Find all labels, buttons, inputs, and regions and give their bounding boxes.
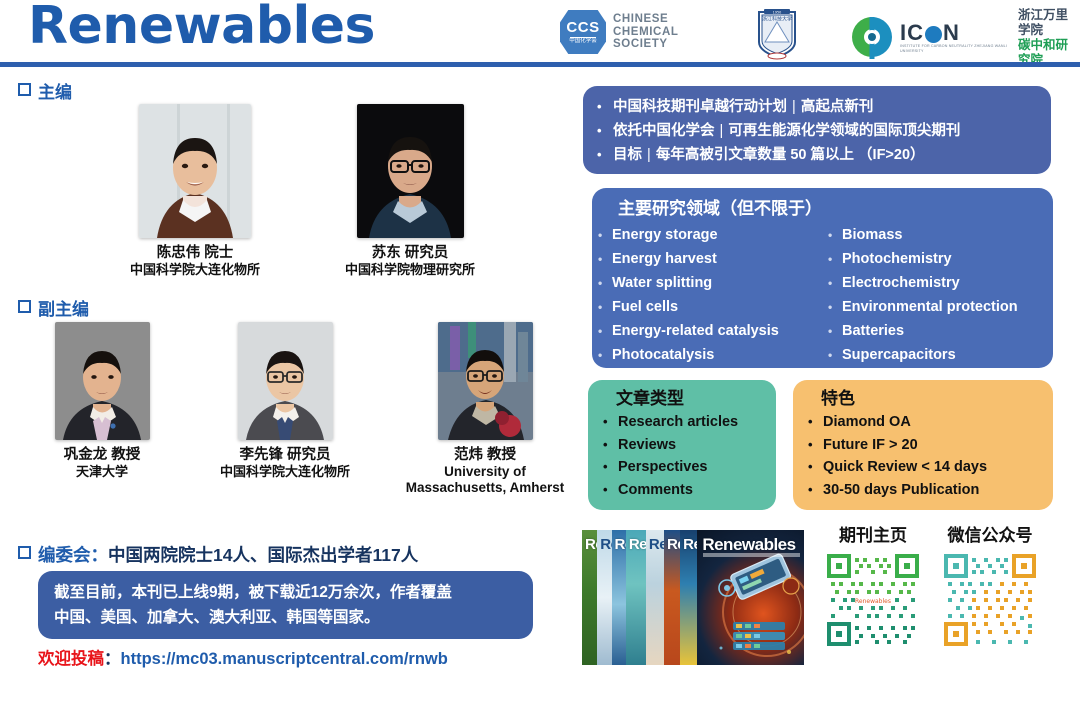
journal-cover-main: Renewables xyxy=(697,530,804,665)
research-areas-column-right: Biomass Photochemistry Electrochemistry … xyxy=(822,223,1041,367)
icon-subtext: INSTITUTE FOR CARBON NEUTRALITY ZHEJIANG… xyxy=(900,44,1009,53)
associate-editor-photo-1 xyxy=(238,322,333,440)
icon-word-text: ICN xyxy=(900,23,1009,43)
right-column: 中国科技期刊卓越行动计划 | 高起点新刊 依托中国化学会 | 可再生能源化学领域… xyxy=(580,70,1080,719)
associate-editor-name-2: 范炜 教授 xyxy=(390,447,580,464)
submission-label: 欢迎投稿 xyxy=(38,650,104,668)
editor-card-0: 陈忠伟 院士 中国科学院大连化物所 xyxy=(105,104,285,278)
logo-strip: CCS 中国化学会 CHINESE CHEMICAL SOCIETY 19 xyxy=(550,4,1080,60)
highlight-item-1-a: 依托中国化学会 xyxy=(613,123,715,139)
submission-url[interactable]: https://mc03.manuscriptcentral.com/rnwb xyxy=(121,650,448,668)
research-area-item: Environmental protection xyxy=(822,295,1041,319)
research-area-item: Energy-related catalysis xyxy=(592,319,822,343)
cover-spine-label: Re xyxy=(585,536,597,553)
editor-name-1: 苏东 研究员 xyxy=(320,245,500,262)
journal-cover-spine: Re xyxy=(582,530,597,665)
submission-colon: ： xyxy=(104,650,121,668)
journal-covers: Re Re Re Re Re Re Re xyxy=(582,530,804,665)
associate-editor-affiliation-2b: Massachusetts, Amherst xyxy=(390,480,580,496)
research-area-item: Energy harvest xyxy=(592,247,822,271)
associate-editor-name-0: 巩金龙 教授 xyxy=(22,447,182,464)
section-heading-editor-in-chief: 主编 xyxy=(18,78,72,103)
square-bullet-icon xyxy=(18,546,31,559)
qr-code-wechat-icon[interactable] xyxy=(940,550,1040,650)
highlight-item-1-b: 可再生能源化学领域的国际顶尖期刊 xyxy=(728,123,960,139)
cover-spine-label: Re xyxy=(683,536,697,553)
icon-logo: ICN INSTITUTE FOR CARBON NEUTRALITY ZHEJ… xyxy=(850,8,1080,68)
highlight-item-2: 目标 | 每年高被引文章数量 50 篇以上 （IF>20） xyxy=(583,143,1051,167)
associate-editor-card-0: 巩金龙 教授 天津大学 xyxy=(22,322,182,480)
ccs-logo: CCS 中国化学会 CHINESE CHEMICAL SOCIETY xyxy=(560,10,679,54)
highlight-item-0-sep: | xyxy=(787,99,801,115)
qr-block-wechat: 微信公众号 xyxy=(940,525,1040,650)
page-title: Renewables xyxy=(28,0,375,56)
university-crest-icon: 1950 浙江科技大学 xyxy=(750,6,804,60)
research-area-item: Supercapacitors xyxy=(822,343,1041,367)
research-area-item: Batteries xyxy=(822,319,1041,343)
feature-item: Quick Review < 14 days xyxy=(793,456,1053,479)
feature-item: Future IF > 20 xyxy=(793,434,1053,457)
article-type-item: Research articles xyxy=(588,411,776,434)
highlight-item-1: 依托中国化学会 | 可再生能源化学领域的国际顶尖期刊 xyxy=(583,119,1051,143)
editor-card-1: 苏东 研究员 中国科学院物理研究所 xyxy=(320,104,500,278)
svg-text:浙江科技大学: 浙江科技大学 xyxy=(762,16,792,23)
research-area-item: Photocatalysis xyxy=(592,343,822,367)
ccs-hex-icon: CCS 中国化学会 xyxy=(560,10,606,54)
highlight-item-2-a: 目标 xyxy=(613,147,642,163)
cover-main-subtitle-bar xyxy=(703,553,800,557)
research-area-item: Energy storage xyxy=(592,223,822,247)
cover-main-title: Renewables xyxy=(702,535,795,555)
research-areas-column-left: Energy storage Energy harvest Water spli… xyxy=(592,223,822,367)
research-areas-panel: 主要研究领域（但不限于） Energy storage Energy harve… xyxy=(592,188,1053,368)
research-areas-columns: Energy storage Energy harvest Water spli… xyxy=(592,223,1053,367)
cover-spine-label: Re xyxy=(667,536,680,553)
ccs-word-line-1: CHINESE xyxy=(613,13,679,26)
qr-label-wechat: 微信公众号 xyxy=(940,525,1040,547)
feature-item: 30-50 days Publication xyxy=(793,479,1053,502)
editorial-board-label: 编委会： xyxy=(38,545,108,565)
ccs-mark-subtext: 中国化学会 xyxy=(569,39,597,45)
associate-editor-affiliation-2: University of xyxy=(390,464,580,480)
article-type-item: Perspectives xyxy=(588,456,776,479)
feature-item: Diamond OA xyxy=(793,411,1053,434)
qr-code-journal-homepage-icon[interactable]: Renewables xyxy=(823,550,923,650)
square-bullet-icon xyxy=(18,300,31,313)
article-type-item: Reviews xyxy=(588,434,776,457)
journal-stats-line-1: 截至目前，本刊已上线9期，被下载近12万余次，作者覆盖 xyxy=(54,580,517,605)
associate-editors-heading-label: 副主编 xyxy=(38,300,89,319)
poster-root: Renewables CCS 中国化学会 CHINESE CHEMICAL SO… xyxy=(0,0,1080,719)
svg-text:1950: 1950 xyxy=(773,10,782,14)
ccs-mark-text: CCS xyxy=(566,20,599,35)
journal-cover-spine: Re xyxy=(597,530,611,665)
journal-cover-spine: Re xyxy=(664,530,680,665)
associate-editor-photo-0 xyxy=(55,322,150,440)
section-heading-associate-editors: 副主编 xyxy=(18,295,89,320)
research-area-item: Photochemistry xyxy=(822,247,1041,271)
qr-block-journal-homepage: 期刊主页 xyxy=(823,525,923,650)
research-area-item: Water splitting xyxy=(592,271,822,295)
article-type-item: Comments xyxy=(588,479,776,502)
ccs-word-line-2: CHEMICAL xyxy=(613,26,679,39)
highlight-item-0-a: 中国科技期刊卓越行动计划 xyxy=(613,99,787,115)
icon-leaf-mark-icon xyxy=(850,15,894,61)
cover-spine-label: Re xyxy=(629,536,646,553)
journal-cover-spine: Re xyxy=(646,530,664,665)
research-area-item: Fuel cells xyxy=(592,295,822,319)
left-column: 主编 陈忠伟 院士 中国 xyxy=(0,70,580,719)
poster-header: Renewables CCS 中国化学会 CHINESE CHEMICAL SO… xyxy=(0,0,1080,66)
icon-cn-line-1: 浙江万里学院 xyxy=(1018,8,1080,38)
icon-wordmark: ICN INSTITUTE FOR CARBON NEUTRALITY ZHEJ… xyxy=(900,23,1009,53)
research-area-item: Biomass xyxy=(822,223,1041,247)
icon-chinese-name: 浙江万里学院 碳中和研究院 xyxy=(1018,8,1080,68)
associate-editor-card-1: 李先锋 研究员 中国科学院大连化物所 xyxy=(195,322,375,480)
features-panel: 特色 Diamond OA Future IF > 20 Quick Revie… xyxy=(793,380,1053,510)
associate-editor-photo-2 xyxy=(438,322,533,440)
highlight-item-0: 中国科技期刊卓越行动计划 | 高起点新刊 xyxy=(583,95,1051,119)
cover-spine-label: Re xyxy=(615,536,626,553)
highlights-list: 中国科技期刊卓越行动计划 | 高起点新刊 依托中国化学会 | 可再生能源化学领域… xyxy=(583,95,1051,167)
editorial-board-line: 编委会：中国两院院士14人、国际杰出学者117人 xyxy=(18,542,418,567)
associate-editor-affiliation-1: 中国科学院大连化物所 xyxy=(195,464,375,480)
editor-photo-0 xyxy=(139,104,251,238)
research-area-item: Electrochemistry xyxy=(822,271,1041,295)
submission-line[interactable]: 欢迎投稿：https://mc03.manuscriptcentral.com/… xyxy=(38,649,448,669)
article-types-list: Research articles Reviews Perspectives C… xyxy=(588,411,776,501)
editor-photo-1 xyxy=(357,104,464,238)
ccs-word-line-3: SOCIETY xyxy=(613,38,679,51)
journal-cover-spine: Re xyxy=(680,530,697,665)
journal-cover-spine: Re xyxy=(626,530,646,665)
highlight-item-2-sep: | xyxy=(642,147,656,163)
highlights-panel: 中国科技期刊卓越行动计划 | 高起点新刊 依托中国化学会 | 可再生能源化学领域… xyxy=(583,86,1051,174)
journal-cover-spine: Re xyxy=(612,530,626,665)
editor-affiliation-1: 中国科学院物理研究所 xyxy=(320,262,500,278)
journal-stats-line-2: 中国、美国、加拿大、澳大利亚、韩国等国家。 xyxy=(54,605,517,630)
journal-stats-box: 截至目前，本刊已上线9期，被下载近12万余次，作者覆盖 中国、美国、加拿大、澳大… xyxy=(38,571,533,639)
research-areas-title: 主要研究领域（但不限于） xyxy=(592,196,1053,222)
associate-editor-affiliation-0: 天津大学 xyxy=(22,464,182,480)
article-types-panel: 文章类型 Research articles Reviews Perspecti… xyxy=(588,380,776,510)
highlight-item-0-b: 高起点新刊 xyxy=(801,99,874,115)
qr-label-journal-homepage: 期刊主页 xyxy=(823,525,923,547)
features-title: 特色 xyxy=(793,386,1053,411)
cover-spine-label: Re xyxy=(649,536,664,553)
article-types-title: 文章类型 xyxy=(588,386,776,411)
highlight-item-1-sep: | xyxy=(715,123,729,139)
editor-affiliation-0: 中国科学院大连化物所 xyxy=(105,262,285,278)
globe-icon xyxy=(925,26,942,43)
ccs-wordmark: CHINESE CHEMICAL SOCIETY xyxy=(613,13,679,51)
square-bullet-icon xyxy=(18,83,31,96)
svg-text:Renewables: Renewables xyxy=(855,598,891,605)
associate-editor-card-2: 范炜 教授 University of Massachusetts, Amher… xyxy=(390,322,580,496)
editorial-board-value: 中国两院院士14人、国际杰出学者117人 xyxy=(108,545,418,565)
header-rule xyxy=(0,62,1080,67)
associate-editor-name-1: 李先锋 研究员 xyxy=(195,447,375,464)
editor-in-chief-heading-label: 主编 xyxy=(38,83,72,102)
editor-name-0: 陈忠伟 院士 xyxy=(105,245,285,262)
features-list: Diamond OA Future IF > 20 Quick Review <… xyxy=(793,411,1053,501)
cover-spine-label: Re xyxy=(600,536,611,553)
highlight-item-2-b: 每年高被引文章数量 50 篇以上 （IF>20） xyxy=(656,147,925,163)
